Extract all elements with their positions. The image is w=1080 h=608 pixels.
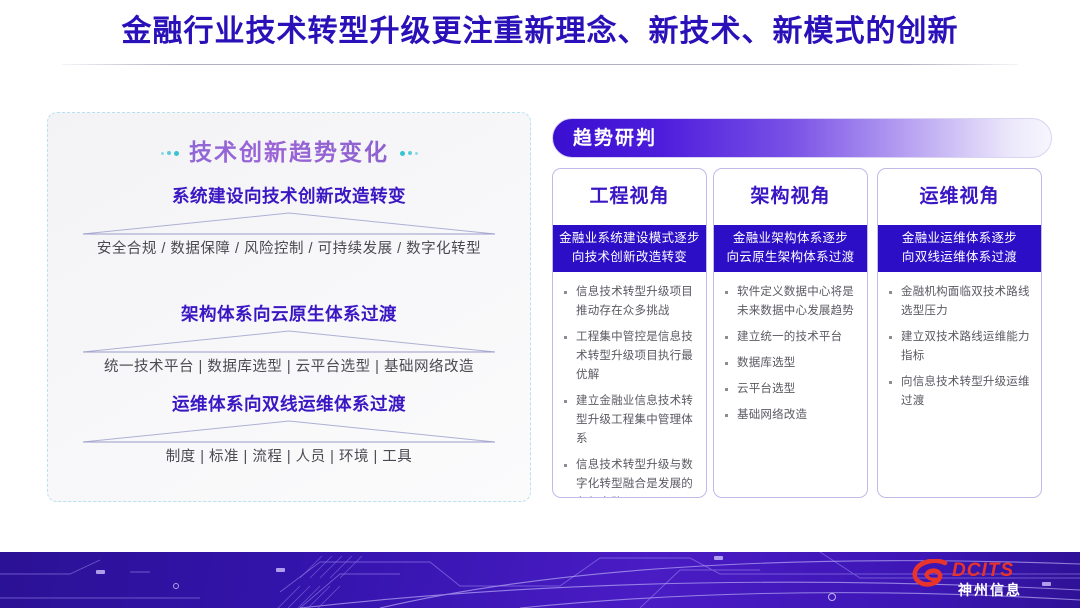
- list-item: 云平台选型: [724, 380, 857, 399]
- view-card-engineering[interactable]: 工程视角 金融业系统建设模式逐步 向技术创新改造转变 信息技术转型升级项目推动存…: [552, 168, 707, 498]
- trend-change-panel: 技术创新趋势变化 系统建设向技术创新改造转变 安全合规 / 数据保障 / 风险控…: [47, 112, 531, 502]
- decorative-dots-left: [159, 138, 180, 165]
- view-card-title: 运维视角: [878, 169, 1041, 225]
- view-card-operations[interactable]: 运维视角 金融业运维体系逐步 向双线运维体系过渡 金融机构面临双技术路线选型压力…: [877, 168, 1042, 498]
- view-card-band-line-1: 金融业系统建设模式逐步: [557, 229, 702, 248]
- list-item: 信息技术转型升级项目推动存在众多挑战: [563, 283, 696, 321]
- list-item: 建立金融业信息技术转型升级工程集中管理体系: [563, 392, 696, 449]
- trend-items-3: 制度 | 标准 | 流程 | 人员 | 环境 | 工具: [48, 445, 530, 466]
- trend-judgement-bar: 趋势研判: [552, 118, 1052, 158]
- view-card-band-line-2: 向云原生架构体系过渡: [718, 248, 863, 267]
- chevron-shape-2: [79, 328, 499, 354]
- footer-banner: DCITS 神州信息: [0, 552, 1080, 608]
- company-logo: DCITS 神州信息: [912, 559, 1062, 601]
- title-divider: [62, 64, 1018, 65]
- view-card-bullet-list: 金融机构面临双技术路线选型压力 建立双技术路线运维能力指标 向信息技术转型升级运…: [878, 272, 1041, 426]
- trend-heading-2: 架构体系向云原生体系过渡: [48, 301, 530, 326]
- chevron-shape-3: [79, 418, 499, 444]
- trend-change-panel-title-text: 技术创新趋势变化: [189, 139, 389, 165]
- view-card-band-line-2: 向技术创新改造转变: [557, 248, 702, 267]
- dcits-swirl-icon: [912, 559, 948, 589]
- trend-items-1: 安全合规 / 数据保障 / 风险控制 / 可持续发展 / 数字化转型: [48, 237, 530, 258]
- list-item: 软件定义数据中心将是未来数据中心发展趋势: [724, 283, 857, 321]
- list-item: 建立统一的技术平台: [724, 328, 857, 347]
- list-item: 信息技术转型升级与数字化转型融合是发展的必行之路: [563, 456, 696, 498]
- view-card-band: 金融业系统建设模式逐步 向技术创新改造转变: [553, 225, 706, 272]
- view-card-title: 架构视角: [714, 169, 867, 225]
- logo-wordmark-cn: 神州信息: [958, 580, 1022, 600]
- view-card-band-line-2: 向双线运维体系过渡: [882, 248, 1037, 267]
- view-card-architecture[interactable]: 架构视角 金融业架构体系逐步 向云原生架构体系过渡 软件定义数据中心将是未来数据…: [713, 168, 868, 498]
- trend-block-3: 运维体系向双线运维体系过渡 制度 | 标准 | 流程 | 人员 | 环境 | 工…: [48, 391, 530, 466]
- trend-block-2: 架构体系向云原生体系过渡 统一技术平台 | 数据库选型 | 云平台选型 | 基础…: [48, 301, 530, 376]
- logo-wordmark-en: DCITS: [952, 560, 1014, 582]
- trend-block-1: 系统建设向技术创新改造转变 安全合规 / 数据保障 / 风险控制 / 可持续发展…: [48, 183, 530, 258]
- trend-judgement-bar-label: 趋势研判: [573, 119, 657, 159]
- list-item: 基础网络改造: [724, 406, 857, 425]
- trend-items-2: 统一技术平台 | 数据库选型 | 云平台选型 | 基础网络改造: [48, 355, 530, 376]
- list-item: 数据库选型: [724, 354, 857, 373]
- list-item: 金融机构面临双技术路线选型压力: [888, 283, 1031, 321]
- chevron-shape-1: [79, 210, 499, 236]
- decorative-dots-right: [398, 138, 419, 165]
- view-card-title: 工程视角: [553, 169, 706, 225]
- list-item: 工程集中管控是信息技术转型升级项目执行最优解: [563, 328, 696, 385]
- list-item: 向信息技术转型升级运维过渡: [888, 373, 1031, 411]
- view-card-bullet-list: 软件定义数据中心将是未来数据中心发展趋势 建立统一的技术平台 数据库选型 云平台…: [714, 272, 867, 440]
- list-item: 建立双技术路线运维能力指标: [888, 328, 1031, 366]
- view-card-band-line-1: 金融业架构体系逐步: [718, 229, 863, 248]
- trend-change-panel-title: 技术创新趋势变化: [48, 133, 530, 167]
- trend-heading-3: 运维体系向双线运维体系过渡: [48, 391, 530, 416]
- view-card-bullet-list: 信息技术转型升级项目推动存在众多挑战 工程集中管控是信息技术转型升级项目执行最优…: [553, 272, 706, 498]
- view-card-band: 金融业运维体系逐步 向双线运维体系过渡: [878, 225, 1041, 272]
- view-card-band-line-1: 金融业运维体系逐步: [882, 229, 1037, 248]
- page-title: 金融行业技术转型升级更注重新理念、新技术、新模式的创新: [0, 14, 1080, 50]
- view-card-band: 金融业架构体系逐步 向云原生架构体系过渡: [714, 225, 867, 272]
- trend-heading-1: 系统建设向技术创新改造转变: [48, 183, 530, 208]
